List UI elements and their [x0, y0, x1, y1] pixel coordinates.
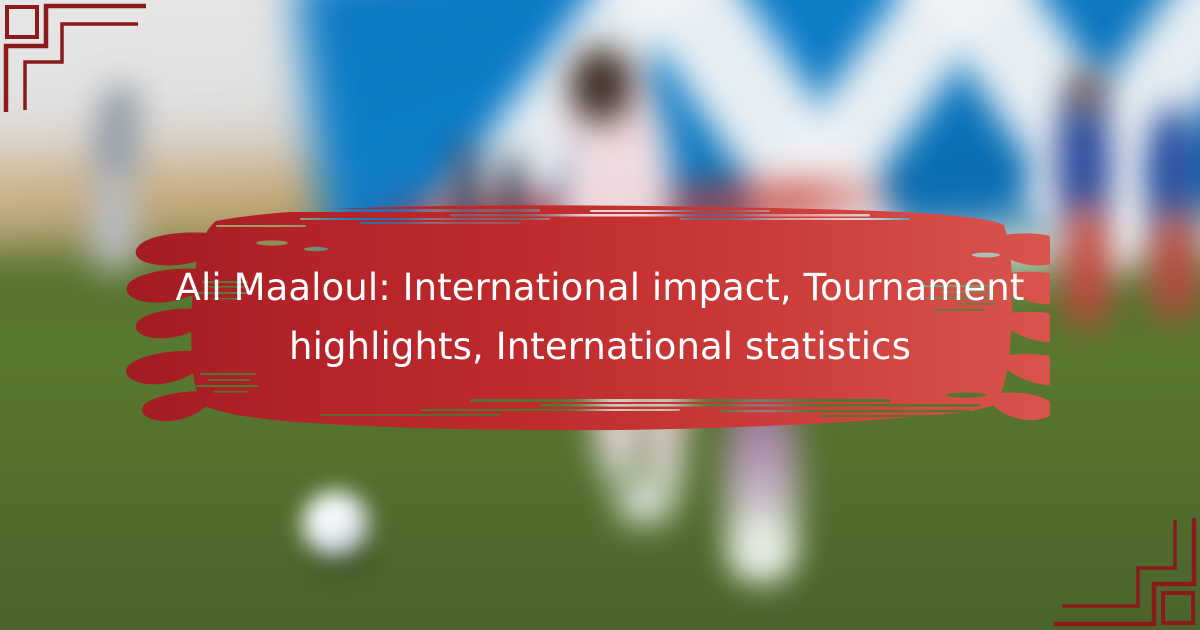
foreground-player-boot — [732, 529, 792, 579]
background-player-head — [1070, 69, 1101, 113]
corner-ornament-top-left — [0, 0, 160, 160]
card-title: Ali Maaloul: International impact, Tourn… — [150, 258, 1050, 376]
football-player-boot — [618, 479, 671, 523]
corner-ornament-bottom-right — [1040, 470, 1200, 630]
football-player-head — [570, 47, 632, 123]
corner-frame-icon — [1040, 470, 1200, 630]
social-share-card: Ali Maaloul: International impact, Tourn… — [0, 0, 1200, 630]
soccer-ball — [302, 491, 369, 558]
corner-frame-icon — [0, 0, 160, 160]
background-player-legs — [1150, 208, 1198, 321]
